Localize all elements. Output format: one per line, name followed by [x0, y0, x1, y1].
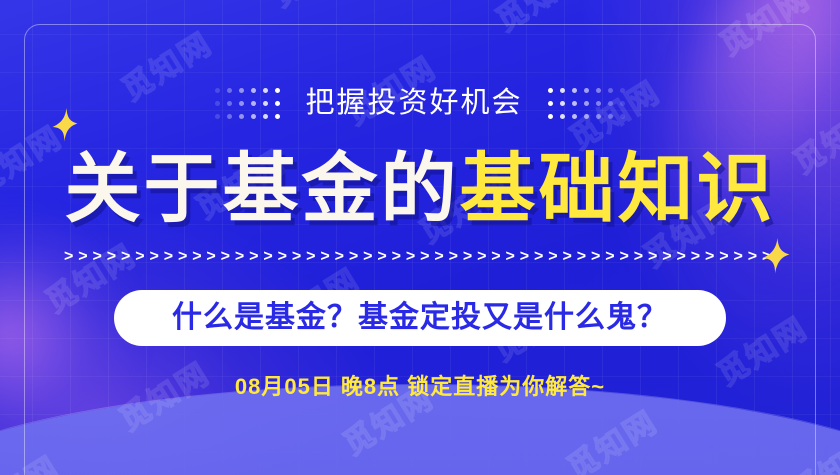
sparkle-icon-left [52, 108, 78, 142]
eyebrow-row: 把握投资好机会 [0, 84, 840, 123]
matrix-dot [215, 88, 220, 93]
poster-content: 把握投资好机会 关于基金的基础知识 >>>>>>>>>>>>>>>>>>>>>>… [0, 0, 840, 475]
matrix-dot [215, 114, 220, 119]
matrix-dot [596, 114, 601, 119]
matrix-dot [239, 114, 244, 119]
page-title: 关于基金的基础知识 [0, 152, 840, 228]
matrix-dot [251, 114, 256, 119]
matrix-dot [275, 114, 280, 119]
matrix-dot [572, 101, 577, 106]
matrix-dot [227, 88, 232, 93]
sparkle-icon-right [762, 238, 790, 274]
matrix-dot [584, 114, 589, 119]
matrix-dot [560, 114, 565, 119]
matrix-dot [263, 114, 268, 119]
matrix-dot [275, 101, 280, 106]
chevron-track: >>>>>>>>>>>>>>>>>>>>>>>>>>>>>>>>>>>>>>>>… [64, 249, 776, 265]
headline-white-segment: 关于基金的 [65, 147, 460, 232]
matrix-dot [608, 114, 613, 119]
eyebrow-text: 把握投资好机会 [305, 89, 522, 118]
matrix-dot [239, 88, 244, 93]
matrix-dot [560, 101, 565, 106]
matrix-dot [608, 101, 613, 106]
matrix-dot [596, 88, 601, 93]
matrix-dot [572, 114, 577, 119]
matrix-dot [584, 101, 589, 106]
matrix-dot [620, 101, 625, 106]
matrix-dot [263, 101, 268, 106]
matrix-dot [608, 88, 613, 93]
matrix-dot [548, 101, 553, 106]
matrix-dot [263, 88, 268, 93]
promo-poster: 觅知网觅知网觅知网觅知网觅知网觅知网觅知网觅知网觅知网觅知网觅知网觅知网觅知网觅… [0, 0, 840, 475]
matrix-dot [560, 88, 565, 93]
dot-matrix-right [545, 84, 629, 123]
matrix-dot [251, 88, 256, 93]
matrix-dot [227, 114, 232, 119]
chevron-divider: >>>>>>>>>>>>>>>>>>>>>>>>>>>>>>>>>>>>>>>>… [64, 249, 776, 265]
matrix-dot [275, 88, 280, 93]
dot-matrix-left [211, 84, 283, 123]
matrix-dot [239, 101, 244, 106]
matrix-dot [620, 114, 625, 119]
matrix-dot [620, 88, 625, 93]
question-pill-text: 什么是基金？基金定投又是什么鬼？ [172, 303, 668, 333]
matrix-dot [572, 88, 577, 93]
matrix-dot [584, 88, 589, 93]
question-pill: 什么是基金？基金定投又是什么鬼？ [114, 290, 726, 346]
matrix-dot [215, 101, 220, 106]
matrix-dot [548, 114, 553, 119]
matrix-dot [596, 101, 601, 106]
headline-yellow-segment: 基础知识 [460, 147, 776, 232]
matrix-dot [251, 101, 256, 106]
schedule-text: 08月05日 晚8点 锁定直播为你解答~ [0, 376, 840, 398]
matrix-dot [227, 101, 232, 106]
matrix-dot [548, 88, 553, 93]
